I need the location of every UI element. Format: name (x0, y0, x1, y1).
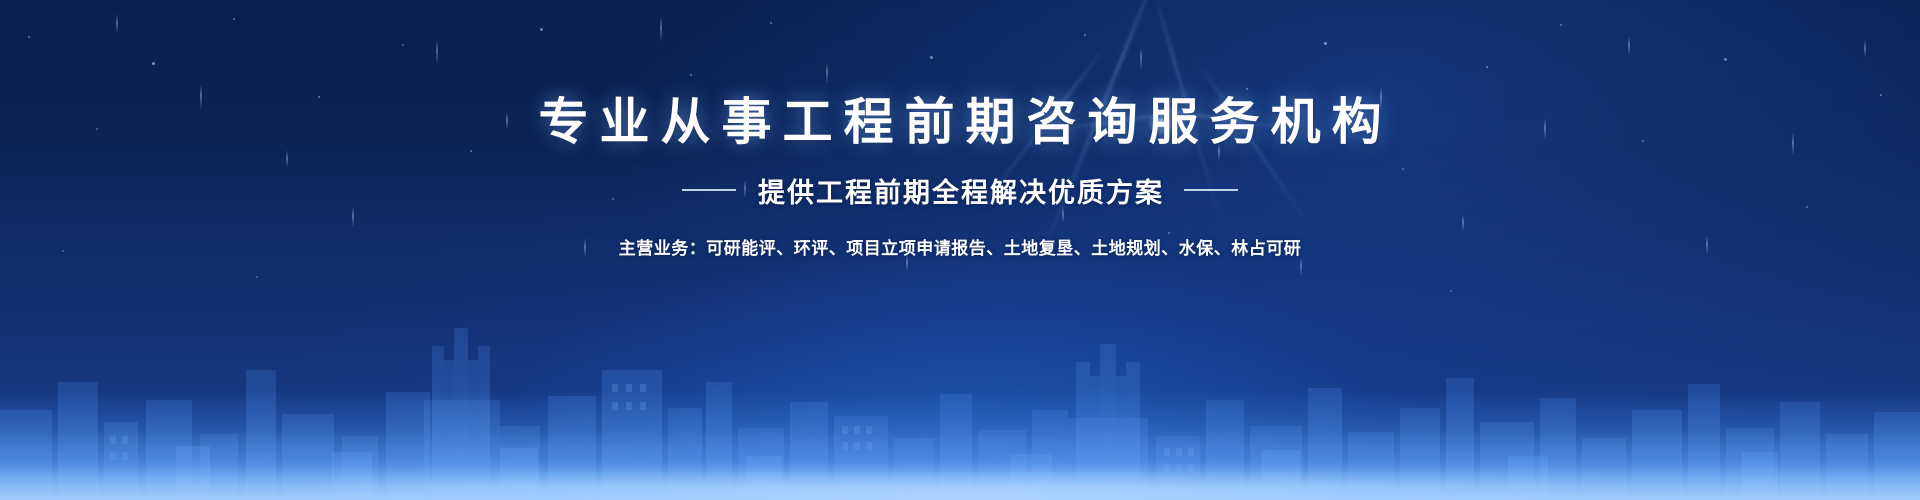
ground-fade (0, 430, 1920, 500)
horizon-highlight (235, 472, 1685, 500)
city-skyline-silhouette (0, 250, 1920, 500)
banner-subheadline: 提供工程前期全程解决优质方案 (756, 171, 1164, 210)
banner-business-scope: 主营业务：可研能评、环评、项目立项申请报告、土地复垦、土地规划、水保、林占可研 (0, 234, 1920, 259)
hero-banner: 专业从事工程前期咨询服务机构 提供工程前期全程解决优质方案 主营业务：可研能评、… (0, 0, 1920, 500)
banner-headline: 专业从事工程前期咨询服务机构 (0, 96, 1920, 149)
horizon-glow (110, 400, 1810, 500)
banner-subheadline-row: 提供工程前期全程解决优质方案 (0, 171, 1920, 210)
banner-text-block: 专业从事工程前期咨询服务机构 提供工程前期全程解决优质方案 主营业务：可研能评、… (0, 96, 1920, 259)
decorative-rule-left (682, 189, 736, 191)
decorative-rule-right (1184, 189, 1238, 191)
